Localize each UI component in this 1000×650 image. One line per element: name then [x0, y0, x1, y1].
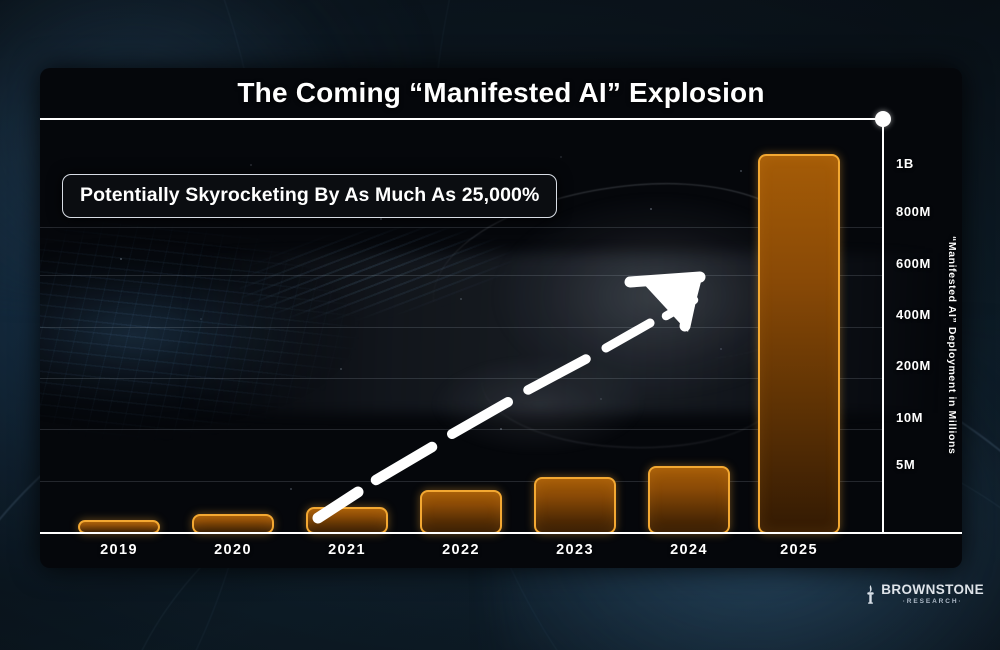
- bar-2024: [648, 466, 730, 534]
- y-tick-200M: 200M: [896, 358, 931, 373]
- bar-2025: [758, 154, 840, 534]
- brownstone-research-logo: BROWNSTONE ·RESEARCH·: [864, 583, 984, 605]
- logo-subtitle: ·RESEARCH·: [881, 599, 984, 606]
- y-tick-600M: 600M: [896, 256, 931, 271]
- y-tick-800M: 800M: [896, 204, 931, 219]
- bar-2022: [420, 490, 502, 534]
- torch-icon: [864, 585, 877, 604]
- y-tick-400M: 400M: [896, 307, 931, 322]
- x-axis-tick-labels: 2019202020212022202320242025: [40, 536, 882, 568]
- x-tick-2024: 2024: [649, 542, 729, 558]
- x-tick-2019: 2019: [79, 542, 159, 558]
- x-tick-2020: 2020: [193, 542, 273, 558]
- logo-text: BROWNSTONE ·RESEARCH·: [881, 583, 984, 605]
- bar-2020: [192, 514, 274, 534]
- bar-2023: [534, 477, 616, 534]
- callout-badge: Potentially Skyrocketing By As Much As 2…: [62, 174, 557, 218]
- logo-name: BROWNSTONE: [881, 583, 984, 597]
- x-tick-2023: 2023: [535, 542, 615, 558]
- x-axis-baseline: [40, 532, 962, 534]
- x-tick-2021: 2021: [307, 542, 387, 558]
- bar-2021: [306, 507, 388, 534]
- x-tick-2025: 2025: [759, 542, 839, 558]
- chart-panel: The Coming “Manifested AI” Explosion Pot…: [40, 68, 962, 568]
- y-axis-title: “Manifested AI” Deployment in Millions: [946, 236, 958, 454]
- chart-title: The Coming “Manifested AI” Explosion: [40, 68, 962, 118]
- y-tick-10M: 10M: [896, 410, 923, 425]
- right-axis-line: [882, 118, 884, 533]
- y-tick-5M: 5M: [896, 457, 915, 472]
- x-tick-2022: 2022: [421, 542, 501, 558]
- y-tick-1B: 1B: [896, 156, 914, 171]
